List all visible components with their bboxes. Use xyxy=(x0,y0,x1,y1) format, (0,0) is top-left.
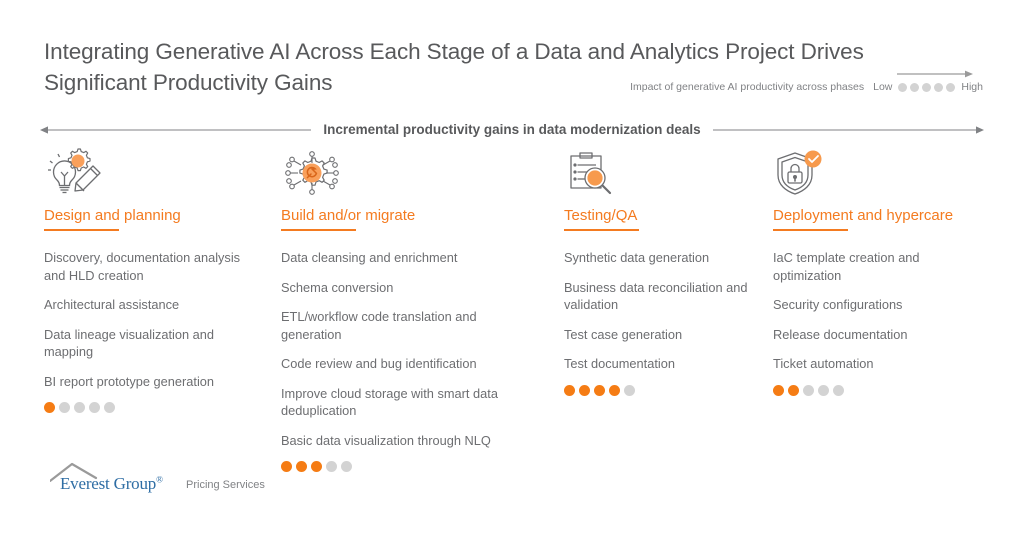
span-band-label: Incremental productivity gains in data m… xyxy=(311,120,712,140)
rating-dot xyxy=(818,385,829,396)
rating-dot xyxy=(609,385,620,396)
rating-dot xyxy=(89,402,100,413)
rating-dot xyxy=(104,402,115,413)
registered-mark: ® xyxy=(156,474,163,484)
legend-dot xyxy=(934,83,943,92)
impact-rating xyxy=(281,461,521,472)
list-item: Test case generation xyxy=(564,326,764,344)
list-item: Ticket automation xyxy=(773,355,988,373)
impact-rating xyxy=(44,402,259,413)
list-item: Data lineage visualization and mapping xyxy=(44,326,259,361)
rating-dot xyxy=(44,402,55,413)
impact-rating xyxy=(773,385,988,396)
list-item: Schema conversion xyxy=(281,279,521,297)
list-item: ETL/workflow code translation and genera… xyxy=(281,308,521,343)
phase-column-build-and-or-migrate: Build and/or migrate Data cleansing and … xyxy=(281,148,521,472)
legend-dot xyxy=(946,83,955,92)
list-item: Basic data visualization through NLQ xyxy=(281,432,521,450)
phase-item-list: Synthetic data generation Business data … xyxy=(564,249,764,373)
legend-high-label: High xyxy=(961,81,983,93)
phase-column-deployment-and-hypercare: Deployment and hypercare IaC template cr… xyxy=(773,148,988,396)
list-item: Business data reconciliation and validat… xyxy=(564,279,764,314)
rating-dot xyxy=(624,385,635,396)
rating-dot xyxy=(311,461,322,472)
phase-item-list: Data cleansing and enrichment Schema con… xyxy=(281,249,521,449)
legend-low-label: Low xyxy=(873,81,892,93)
legend-dot xyxy=(898,83,907,92)
rating-dot xyxy=(788,385,799,396)
list-item: Security configurations xyxy=(773,296,988,314)
rating-dot xyxy=(833,385,844,396)
list-item: Release documentation xyxy=(773,326,988,344)
heading-underline xyxy=(773,229,848,231)
rating-dot xyxy=(594,385,605,396)
legend-dot xyxy=(922,83,931,92)
everest-group-logo: Everest Group® Pricing Services xyxy=(48,462,298,498)
list-item: Discovery, documentation analysis and HL… xyxy=(44,249,259,284)
phase-heading: Build and/or migrate xyxy=(281,206,521,225)
list-item: IaC template creation and optimization xyxy=(773,249,988,284)
lightbulb-gear-pencil-icon xyxy=(44,148,259,198)
list-item: Data cleansing and enrichment xyxy=(281,249,521,267)
logo-name-text: Everest Group xyxy=(60,474,156,493)
heading-underline xyxy=(564,229,639,231)
logo-subtitle: Pricing Services xyxy=(186,479,265,491)
slide-canvas: Integrating Generative AI Across Each St… xyxy=(0,0,1023,536)
rating-dot xyxy=(803,385,814,396)
phase-columns: Design and planning Discovery, documenta… xyxy=(0,148,1023,478)
logo-name: Everest Group® xyxy=(60,474,163,494)
rating-dot xyxy=(579,385,590,396)
list-item: Test documentation xyxy=(564,355,764,373)
rating-dot xyxy=(326,461,337,472)
list-item: Code review and bug identification xyxy=(281,355,521,373)
network-gear-wrench-icon xyxy=(281,148,521,198)
rating-dot xyxy=(74,402,85,413)
list-item: BI report prototype generation xyxy=(44,373,259,391)
span-arrow-band: Incremental productivity gains in data m… xyxy=(40,120,984,140)
list-item: Improve cloud storage with smart data de… xyxy=(281,385,521,420)
phase-heading: Deployment and hypercare xyxy=(773,206,988,225)
phase-heading: Testing/QA xyxy=(564,206,764,225)
heading-underline xyxy=(44,229,119,231)
legend-scale: Low High xyxy=(873,81,983,93)
rating-dot xyxy=(773,385,784,396)
legend-dots xyxy=(898,83,955,92)
rating-dot xyxy=(564,385,575,396)
phase-heading: Design and planning xyxy=(44,206,259,225)
legend-dot xyxy=(910,83,919,92)
rating-dot xyxy=(341,461,352,472)
shield-lock-check-icon xyxy=(773,148,988,198)
phase-item-list: IaC template creation and optimization S… xyxy=(773,249,988,373)
clipboard-magnifier-icon xyxy=(564,148,764,198)
legend-caption: Impact of generative AI productivity acr… xyxy=(630,81,864,93)
phase-column-design-and-planning: Design and planning Discovery, documenta… xyxy=(44,148,259,413)
heading-underline xyxy=(281,229,356,231)
list-item: Synthetic data generation xyxy=(564,249,764,267)
list-item: Architectural assistance xyxy=(44,296,259,314)
impact-rating xyxy=(564,385,764,396)
impact-legend: Impact of generative AI productivity acr… xyxy=(630,76,983,98)
rating-dot xyxy=(59,402,70,413)
right-arrow-icon xyxy=(897,70,973,78)
phase-item-list: Discovery, documentation analysis and HL… xyxy=(44,249,259,390)
phase-column-testing-qa: Testing/QA Synthetic data generation Bus… xyxy=(564,148,764,396)
